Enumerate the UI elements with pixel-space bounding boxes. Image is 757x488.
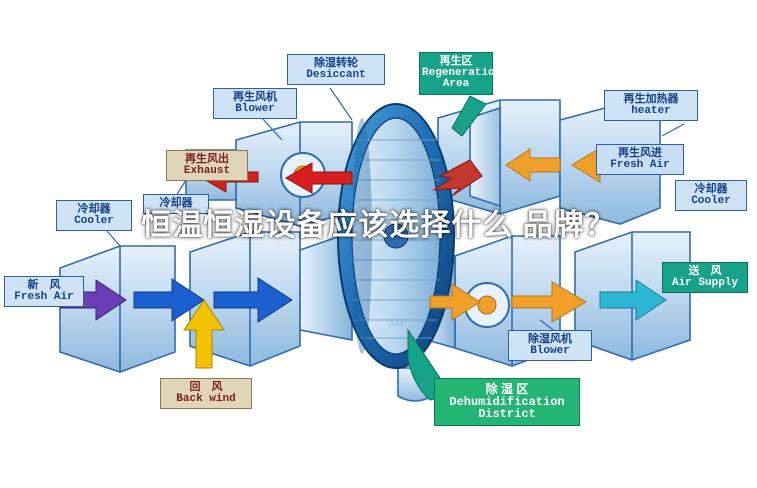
label-fresh-air-en: Fresh Air bbox=[7, 292, 81, 304]
label-fresh-air: 新 风 Fresh Air bbox=[4, 276, 84, 307]
page-title: 恒温恒湿设备应该选择什么 品牌？ bbox=[0, 206, 757, 247]
label-regeneration-area-cn: 再生区 bbox=[422, 56, 490, 68]
label-regen-heater-cn: 再生加热器 bbox=[607, 94, 695, 106]
label-back-wind: 回 风 Back wind bbox=[160, 378, 252, 409]
label-desiccant-wheel-cn: 除湿转轮 bbox=[290, 58, 382, 70]
label-regeneration-area-en: Regeneration Area bbox=[422, 68, 490, 91]
label-exhaust-cn: 再生风出 bbox=[169, 154, 245, 166]
label-regen-fresh-air-en: Fresh Air bbox=[599, 160, 681, 172]
label-dehum-blower-en: Blower bbox=[511, 346, 589, 358]
label-regen-blower: 再生风机 Blower bbox=[213, 88, 297, 119]
label-regen-heater: 再生加热器 heater bbox=[604, 90, 698, 121]
page-title-line2: 品牌？ bbox=[523, 209, 616, 242]
label-regen-heater-en: heater bbox=[607, 106, 695, 118]
label-air-supply-en: Air Supply bbox=[665, 278, 745, 290]
label-exhaust-en: Exhaust bbox=[169, 166, 245, 178]
label-regeneration-area: 再生区 Regeneration Area bbox=[419, 52, 493, 95]
label-back-wind-en: Back wind bbox=[163, 394, 249, 406]
label-dehumidification-district: 除 湿 区 Dehumidification District bbox=[434, 378, 580, 426]
label-dehum-blower-cn: 除湿风机 bbox=[511, 334, 589, 346]
label-air-supply: 送 风 Air Supply bbox=[662, 262, 748, 293]
label-regen-blower-cn: 再生风机 bbox=[216, 92, 294, 104]
label-dehum-district-cn: 除 湿 区 bbox=[437, 383, 577, 396]
page-title-line1: 恒温恒湿设备应该选择什么 bbox=[141, 209, 513, 242]
label-regen-fresh-air-cn: 再生风进 bbox=[599, 148, 681, 160]
label-regen-blower-en: Blower bbox=[216, 104, 294, 116]
label-desiccant-wheel: 除湿转轮 Desiccant bbox=[287, 54, 385, 85]
diagram-canvas: XH 恒温恒湿设备应该选择什么 品牌？ 除湿转轮 Desiccant 再生区 R… bbox=[0, 0, 757, 488]
label-back-wind-cn: 回 风 bbox=[163, 382, 249, 394]
label-dehum-district-en: Dehumidification District bbox=[437, 396, 577, 421]
label-desiccant-wheel-en: Desiccant bbox=[290, 70, 382, 82]
label-fresh-air-cn: 新 风 bbox=[7, 280, 81, 292]
label-dehum-blower: 除湿风机 Blower bbox=[508, 330, 592, 361]
label-cooler-right-cn: 冷却器 bbox=[678, 184, 744, 196]
label-air-supply-cn: 送 风 bbox=[665, 266, 745, 278]
label-exhaust: 再生风出 Exhaust bbox=[166, 150, 248, 181]
wheel-watermark: XH bbox=[388, 317, 403, 329]
label-regen-fresh-air: 再生风进 Fresh Air bbox=[596, 144, 684, 175]
